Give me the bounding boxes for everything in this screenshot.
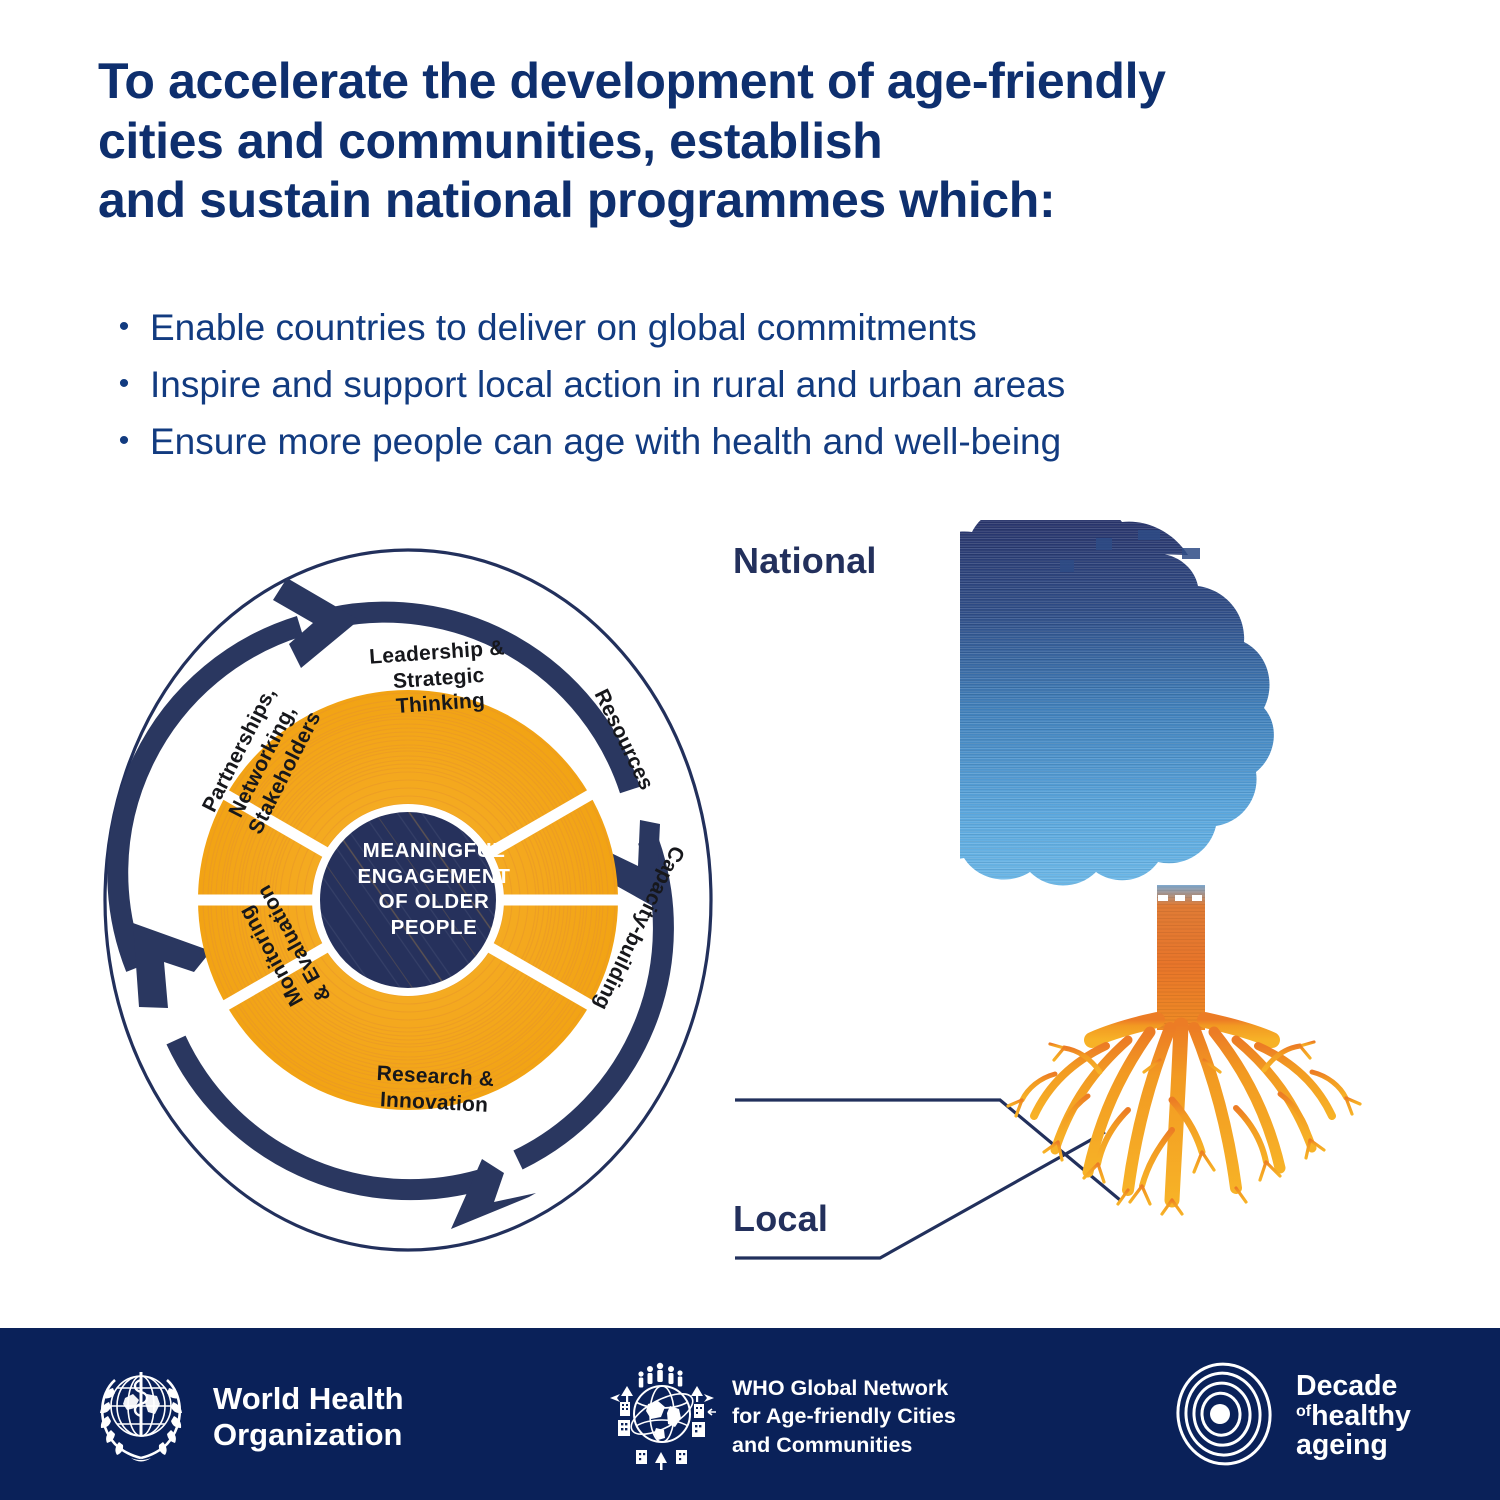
logo-decade-line3: ageing <box>1296 1431 1411 1461</box>
list-item-label: Enable countries to deliver on global co… <box>150 300 1378 357</box>
list-item-label: Ensure more people can age with health a… <box>150 414 1378 471</box>
logo-who: World Health Organization <box>85 1358 404 1475</box>
bullet-marker-icon: • <box>98 312 150 342</box>
logo-who-line2: Organization <box>213 1417 404 1453</box>
logo-decade-text: Decade ofhealthy ageing <box>1296 1372 1411 1462</box>
pointer-label-national: National <box>733 540 877 582</box>
logo-decade-of: of <box>1296 1403 1311 1420</box>
bullet-list: • Enable countries to deliver on global … <box>98 300 1378 471</box>
headline-line-3: and sustain national programmes which: <box>98 171 1438 231</box>
logo-decade: Decade ofhealthy ageing <box>1168 1358 1411 1475</box>
concentric-rings-icon <box>1168 1358 1280 1475</box>
capacity-wheel <box>197 690 619 1110</box>
headline-line-2: cities and communities, establish <box>98 112 1438 172</box>
logo-decade-line2: healthy <box>1311 1400 1411 1432</box>
logo-who-text: World Health Organization <box>213 1381 404 1453</box>
list-item: • Ensure more people can age with health… <box>98 414 1378 471</box>
tree-roots <box>1008 1020 1360 1214</box>
globe-network-icon <box>608 1358 716 1475</box>
list-item: • Enable countries to deliver on global … <box>98 300 1378 357</box>
bullet-marker-icon: • <box>98 426 150 456</box>
logo-decade-line1: Decade <box>1296 1372 1411 1402</box>
tree-illustration <box>960 520 1420 1214</box>
page-title: To accelerate the development of age-fri… <box>98 52 1438 231</box>
list-item-label: Inspire and support local action in rura… <box>150 357 1378 414</box>
bullet-marker-icon: • <box>98 369 150 399</box>
logo-network-line2: for Age-friendly Cities <box>732 1402 956 1431</box>
logo-network-line3: and Communities <box>732 1431 956 1460</box>
logo-who-line1: World Health <box>213 1381 404 1417</box>
footer-bar: World Health Organization <box>0 1328 1500 1500</box>
pointer-label-local: Local <box>733 1198 828 1240</box>
headline-line-1: To accelerate the development of age-fri… <box>98 52 1438 112</box>
logo-network-text: WHO Global Network for Age-friendly Citi… <box>732 1374 956 1460</box>
logo-network-line1: WHO Global Network <box>732 1374 956 1403</box>
logo-decade-line2-wrap: ofhealthy <box>1296 1402 1411 1432</box>
list-item: • Inspire and support local action in ru… <box>98 357 1378 414</box>
logo-global-network: WHO Global Network for Age-friendly Citi… <box>608 1358 956 1475</box>
who-emblem-icon <box>85 1358 197 1475</box>
